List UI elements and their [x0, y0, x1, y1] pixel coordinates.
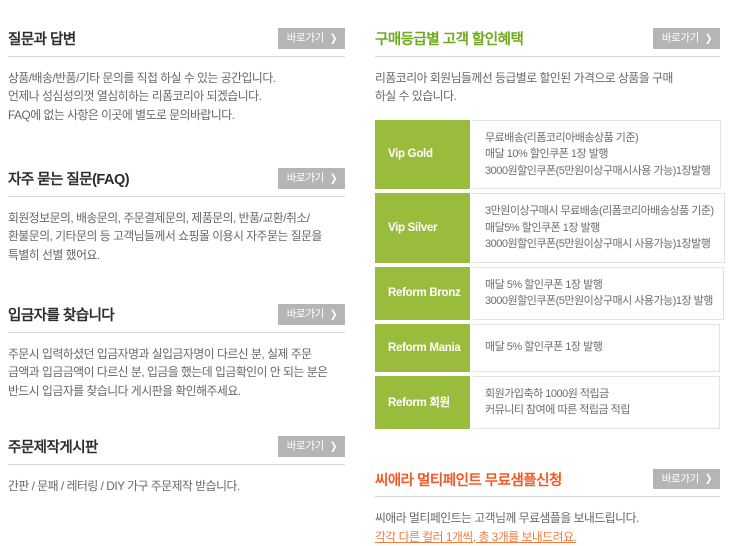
right-column: 구매등급별 고객 할인혜택 바로가기 ❯ 리폼코리아 회원님들께선 등급별로 할… — [365, 28, 730, 503]
grade-benefits: 3만원이상구매시 무료배송(리폼코리아배송상품 기준) 매달5% 할인쿠폰 1장… — [473, 193, 725, 263]
benefit-line: 매달5% 할인쿠폰 1장 발행 — [485, 220, 714, 237]
chevron-right-icon: ❯ — [705, 474, 712, 484]
benefit-line: 3000원할인쿠폰(5만원이상구매시사용 가능)1장발행 — [485, 163, 710, 180]
section-header: 입금자를 찾습니다 바로가기 ❯ — [8, 304, 345, 333]
section-title-qna: 질문과 답변 — [8, 32, 76, 49]
goto-button-label: 바로가기 — [662, 33, 699, 44]
section-title-member-grade-benefits: 구매등급별 고객 할인혜택 — [375, 32, 523, 49]
section-qna: 질문과 답변 바로가기 ❯ 상품/배송/반품/기타 문의를 직접 하실 수 있는… — [8, 28, 345, 124]
table-row: Reform Bronz 매달 5% 할인쿠폰 1장 발행 3000원할인쿠폰(… — [375, 267, 720, 320]
goto-button-label: 바로가기 — [287, 33, 324, 44]
body-line: 특별히 선별 했어요. — [8, 246, 345, 265]
goto-button-faq[interactable]: 바로가기 ❯ — [278, 168, 345, 189]
section-body-custom-order-board: 간판 / 문패 / 레터링 / DIY 가구 주문제작 받습니다. — [8, 465, 345, 496]
section-body-faq: 회원정보문의, 배송문의, 주문결제문의, 제품문의, 반품/교환/취소/ 환불… — [8, 197, 345, 265]
grade-label: Reform Mania — [375, 324, 470, 372]
section-header: 구매등급별 고객 할인혜택 바로가기 ❯ — [375, 28, 720, 57]
body-line: FAQ에 없는 사항은 이곳에 별도로 문의바랍니다. — [8, 106, 345, 125]
benefit-line: 무료배송(리폼코리아배송상품 기준) — [485, 130, 710, 147]
section-custom-order-board: 주문제작게시판 바로가기 ❯ 간판 / 문패 / 레터링 / DIY 가구 주문… — [8, 436, 345, 495]
section-header: 자주 묻는 질문(FAQ) 바로가기 ❯ — [8, 168, 345, 197]
goto-button-label: 바로가기 — [662, 474, 699, 485]
grade-benefits: 회원가입축하 1000원 적립금 커뮤니티 참여에 따른 적립금 적립 — [473, 376, 720, 429]
chevron-right-icon: ❯ — [330, 33, 337, 43]
grade-label: Vip Gold — [375, 120, 470, 190]
section-member-grade-benefits: 구매등급별 고객 할인혜택 바로가기 ❯ 리폼코리아 회원님들께선 등급별로 할… — [375, 28, 720, 429]
benefit-line: 매달 5% 할인쿠폰 1장 발행 — [485, 339, 709, 356]
grade-label: Reform Bronz — [375, 267, 470, 320]
section-free-sample-request: 씨애라 멀티페인트 무료샘플신청 바로가기 ❯ 씨애라 멀티페인트는 고객님께 … — [375, 469, 720, 546]
body-line: 반드시 입금자를 찾습니다 게시판을 확인해주세요. — [8, 382, 345, 401]
grade-benefits: 무료배송(리폼코리아배송상품 기준) 매달 10% 할인쿠폰 1장 발행 300… — [473, 120, 721, 190]
chevron-right-icon: ❯ — [330, 441, 337, 451]
goto-button-custom-order-board[interactable]: 바로가기 ❯ — [278, 436, 345, 457]
spacer — [375, 433, 720, 469]
benefit-line: 매달 5% 할인쿠폰 1장 발행 — [485, 277, 713, 294]
table-row: Vip Silver 3만원이상구매시 무료배송(리폼코리아배송상품 기준) 매… — [375, 193, 720, 263]
body-line-highlight: 각각 다른 컬러 1개씩, 총 3개를 보내드려요. — [375, 528, 720, 546]
body-line: 상품/배송/반품/기타 문의를 직접 하실 수 있는 공간입니다. — [8, 69, 345, 88]
spacer — [8, 124, 345, 168]
left-column: 질문과 답변 바로가기 ❯ 상품/배송/반품/기타 문의를 직접 하실 수 있는… — [0, 28, 365, 503]
chevron-right-icon: ❯ — [330, 309, 337, 319]
benefit-line: 3만원이상구매시 무료배송(리폼코리아배송상품 기준) — [485, 203, 714, 220]
section-body-depositor-search: 주문시 입력하셨던 입금자명과 실입금자명이 다르신 분, 실제 주문 금액과 … — [8, 333, 345, 401]
goto-button-member-grade-benefits[interactable]: 바로가기 ❯ — [653, 28, 720, 49]
benefit-line: 3000원할인쿠폰(5만원이상구매시 사용가능)1장 발행 — [485, 293, 713, 310]
body-line: 주문시 입력하셨던 입금자명과 실입금자명이 다르신 분, 실제 주문 — [8, 345, 345, 364]
page-root: 질문과 답변 바로가기 ❯ 상품/배송/반품/기타 문의를 직접 하실 수 있는… — [0, 0, 730, 503]
section-header: 주문제작게시판 바로가기 ❯ — [8, 436, 345, 465]
table-row: Reform 회원 회원가입축하 1000원 적립금 커뮤니티 참여에 따른 적… — [375, 376, 720, 429]
section-body-member-grade-benefits: 리폼코리아 회원님들께선 등급별로 할인된 가격으로 상품을 구매 하실 수 있… — [375, 57, 720, 106]
section-title-depositor-search: 입금자를 찾습니다 — [8, 308, 114, 325]
section-header: 질문과 답변 바로가기 ❯ — [8, 28, 345, 57]
body-line: 금액과 입금금액이 다르신 분, 입금을 했는데 입금확인이 안 되는 분은 — [8, 363, 345, 382]
spacer — [8, 400, 345, 436]
body-line: 씨애라 멀티페인트는 고객님께 무료샘플을 보내드립니다. — [375, 509, 720, 528]
goto-button-label: 바로가기 — [287, 441, 324, 452]
body-line: 회원정보문의, 배송문의, 주문결제문의, 제품문의, 반품/교환/취소/ — [8, 209, 345, 228]
benefit-line: 매달 10% 할인쿠폰 1장 발행 — [485, 146, 710, 163]
section-body-qna: 상품/배송/반품/기타 문의를 직접 하실 수 있는 공간입니다. 언제나 성심… — [8, 57, 345, 125]
grade-label: Reform 회원 — [375, 376, 470, 429]
goto-button-label: 바로가기 — [287, 173, 324, 184]
grade-label: Vip Silver — [375, 193, 470, 263]
chevron-right-icon: ❯ — [705, 33, 712, 43]
body-line: 환불문의, 기타문의 등 고객님들께서 쇼핑몰 이용시 자주묻는 질문을 — [8, 227, 345, 246]
table-row: Reform Mania 매달 5% 할인쿠폰 1장 발행 — [375, 324, 720, 372]
body-line: 간판 / 문패 / 레터링 / DIY 가구 주문제작 받습니다. — [8, 477, 345, 496]
table-row: Vip Gold 무료배송(리폼코리아배송상품 기준) 매달 10% 할인쿠폰 … — [375, 120, 720, 190]
grade-benefits-table: Vip Gold 무료배송(리폼코리아배송상품 기준) 매달 10% 할인쿠폰 … — [375, 120, 720, 429]
section-title-custom-order-board: 주문제작게시판 — [8, 440, 98, 457]
benefit-line: 회원가입축하 1000원 적립금 — [485, 386, 709, 403]
chevron-right-icon: ❯ — [330, 173, 337, 183]
grade-benefits: 매달 5% 할인쿠폰 1장 발행 — [473, 324, 720, 372]
goto-button-depositor-search[interactable]: 바로가기 ❯ — [278, 304, 345, 325]
body-line: 하실 수 있습니다. — [375, 87, 720, 106]
benefit-line: 3000원할인쿠폰(5만원이상구매시 사용가능)1장발행 — [485, 236, 714, 253]
goto-button-qna[interactable]: 바로가기 ❯ — [278, 28, 345, 49]
benefit-line: 커뮤니티 참여에 따른 적립금 적립 — [485, 402, 709, 419]
section-body-free-sample-request: 씨애라 멀티페인트는 고객님께 무료샘플을 보내드립니다. 각각 다른 컬러 1… — [375, 497, 720, 546]
section-faq: 자주 묻는 질문(FAQ) 바로가기 ❯ 회원정보문의, 배송문의, 주문결제문… — [8, 168, 345, 264]
body-line: 언제나 성심성의껏 열심히하는 리폼코리아 되겠습니다. — [8, 87, 345, 106]
section-header: 씨애라 멀티페인트 무료샘플신청 바로가기 ❯ — [375, 469, 720, 498]
section-depositor-search: 입금자를 찾습니다 바로가기 ❯ 주문시 입력하셨던 입금자명과 실입금자명이 … — [8, 304, 345, 400]
goto-button-label: 바로가기 — [287, 309, 324, 320]
grade-benefits: 매달 5% 할인쿠폰 1장 발행 3000원할인쿠폰(5만원이상구매시 사용가능… — [473, 267, 724, 320]
spacer — [8, 264, 345, 304]
section-title-faq: 자주 묻는 질문(FAQ) — [8, 172, 129, 189]
goto-button-free-sample-request[interactable]: 바로가기 ❯ — [653, 469, 720, 490]
section-title-free-sample-request: 씨애라 멀티페인트 무료샘플신청 — [375, 473, 562, 490]
body-line: 리폼코리아 회원님들께선 등급별로 할인된 가격으로 상품을 구매 — [375, 69, 720, 88]
